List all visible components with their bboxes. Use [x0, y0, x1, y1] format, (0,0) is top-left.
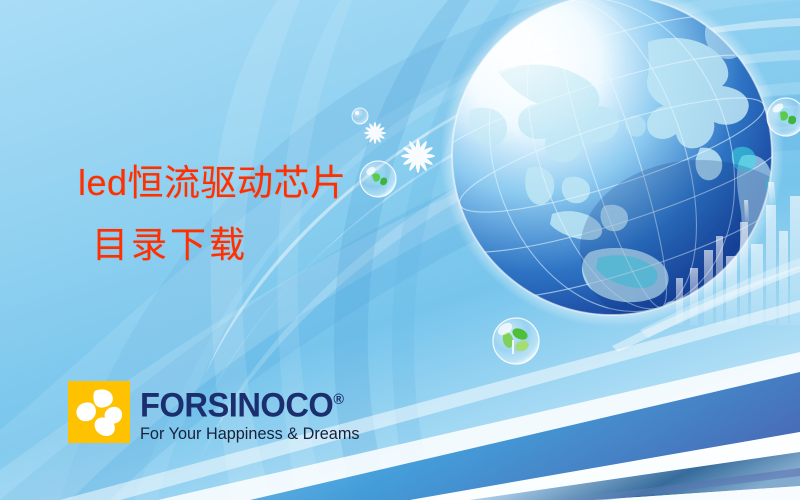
logo-wordmark: FORSINOCO® [140, 383, 354, 422]
bubble-globe-right [767, 98, 800, 136]
logo-mark [68, 381, 130, 443]
logo-tagline: For Your Happiness & Dreams [140, 425, 360, 444]
headline-line-2: 目录下载 [92, 222, 498, 268]
logo-wordmark-text: FORSINOCO [140, 386, 333, 424]
bubble-small-top [352, 108, 368, 124]
headline-block: led恒流驱动芯片 目录下载 [78, 160, 498, 268]
registered-trademark-icon: ® [333, 391, 343, 408]
four-petal-pinwheel-icon [68, 381, 130, 443]
bubble-pinwheel-center [493, 318, 539, 364]
headline-line-1: led恒流驱动芯片 [78, 160, 498, 206]
logo-text-block: FORSINOCO® For Your Happiness & Dreams [140, 381, 363, 444]
brand-logo[interactable]: FORSINOCO® For Your Happiness & Dreams [68, 381, 363, 444]
promo-banner: led恒流驱动芯片 目录下载 FORSINOCO® For Your Happi… [0, 0, 800, 500]
